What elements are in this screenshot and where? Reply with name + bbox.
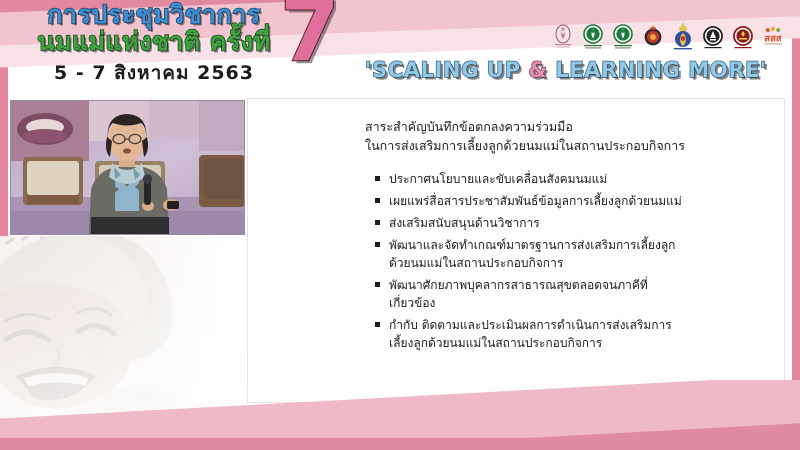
thai-medical-council-logo [730, 22, 756, 52]
conference-title-line2: นมแม่แห่งชาติ ครั้งที่ [14, 29, 294, 55]
sponsor-logo-row: สสส [550, 22, 786, 52]
department-health-logo [610, 22, 636, 52]
list-item: พัฒนาศักยภาพบุคลากรสาธารณสุขตลอดจนภาคีที… [375, 276, 699, 312]
content-heading-line1: สาระสำคัญบันทึกข้อตกลงความร่วมมือ [365, 117, 768, 136]
footer-decorative-bands [0, 380, 800, 450]
agreement-bullet-list: ประกาศนโยบายและขับเคลื่อนสังคมนมแม่ เผยแ… [375, 170, 768, 352]
speaker-video-still [10, 100, 245, 235]
conference-tagline: 'SCALING UP & LEARNING MORE' [365, 58, 767, 82]
bullet-text-continuation: ด้วยนมแม่ในสถานประกอบกิจการ [389, 254, 699, 272]
ministry-labour-logo [640, 22, 666, 52]
svg-text:สสส: สสส [764, 33, 782, 44]
list-item: ประกาศนโยบายและขับเคลื่อนสังคมนมแม่ [375, 170, 699, 188]
bullet-text-continuation: เลี้ยงลูกด้วยนมแม่ในสถานประกอบกิจการ [389, 334, 699, 352]
bullet-text: เผยแพร่สื่อสารประชาสัมพันธ์ข้อมูลการเลี้… [389, 194, 682, 208]
conference-title-line1: การประชุมวิชาการ [14, 2, 294, 28]
conference-title-block: การประชุมวิชาการ นมแม่แห่งชาติ ครั้งที่ … [14, 2, 294, 88]
conference-date: 5 - 7 สิงหาคม 2563 [14, 58, 294, 88]
list-item: กำกับ ติดตามและประเมินผลการดำเนินการส่งเ… [375, 316, 699, 352]
nursing-council-logo [700, 22, 726, 52]
bullet-text-continuation: เกี่ยวข้อง [389, 294, 699, 312]
list-item: เผยแพร่สื่อสารประชาสัมพันธ์ข้อมูลการเลี้… [375, 192, 699, 210]
royal-seal-logo [550, 22, 576, 52]
bullet-text: ประกาศนโยบายและขับเคลื่อนสังคมนมแม่ [389, 172, 607, 186]
thaihealth-logo: สสส [760, 22, 786, 52]
ministry-public-health-logo [580, 22, 606, 52]
bullet-text: พัฒนาศักยภาพบุคลากรสาธารณสุขตลอดจนภาคีที… [389, 278, 648, 292]
presentation-slide: การประชุมวิชาการ นมแม่แห่งชาติ ครั้งที่ … [0, 0, 800, 450]
tagline-ampersand: & [529, 58, 548, 82]
bullet-text: พัฒนาและจัดทำเกณฑ์มาตรฐานการส่งเสริมการเ… [389, 238, 675, 252]
content-heading: สาระสำคัญบันทึกข้อตกลงความร่วมมือ ในการส… [365, 117, 768, 156]
tagline-text-suffix: LEARNING MORE' [547, 58, 767, 82]
list-item: พัฒนาและจัดทำเกณฑ์มาตรฐานการส่งเสริมการเ… [375, 236, 699, 272]
content-heading-line2: ในการส่งเสริมการเลี้ยงลูกด้วยนมแม่ในสถาน… [365, 136, 768, 155]
bullet-text: กำกับ ติดตามและประเมินผลการดำเนินการส่งเ… [389, 318, 672, 332]
tagline-text-prefix: 'SCALING UP [365, 58, 529, 82]
list-item: ส่งเสริมสนับสนุนด้านวิชาการ [375, 214, 699, 232]
royal-crest-logo [670, 22, 696, 52]
bullet-text: ส่งเสริมสนับสนุนด้านวิชาการ [389, 216, 540, 230]
footer-band-solid-pink [0, 438, 800, 450]
content-panel: สาระสำคัญบันทึกข้อตกลงความร่วมมือ ในการส… [247, 98, 785, 403]
